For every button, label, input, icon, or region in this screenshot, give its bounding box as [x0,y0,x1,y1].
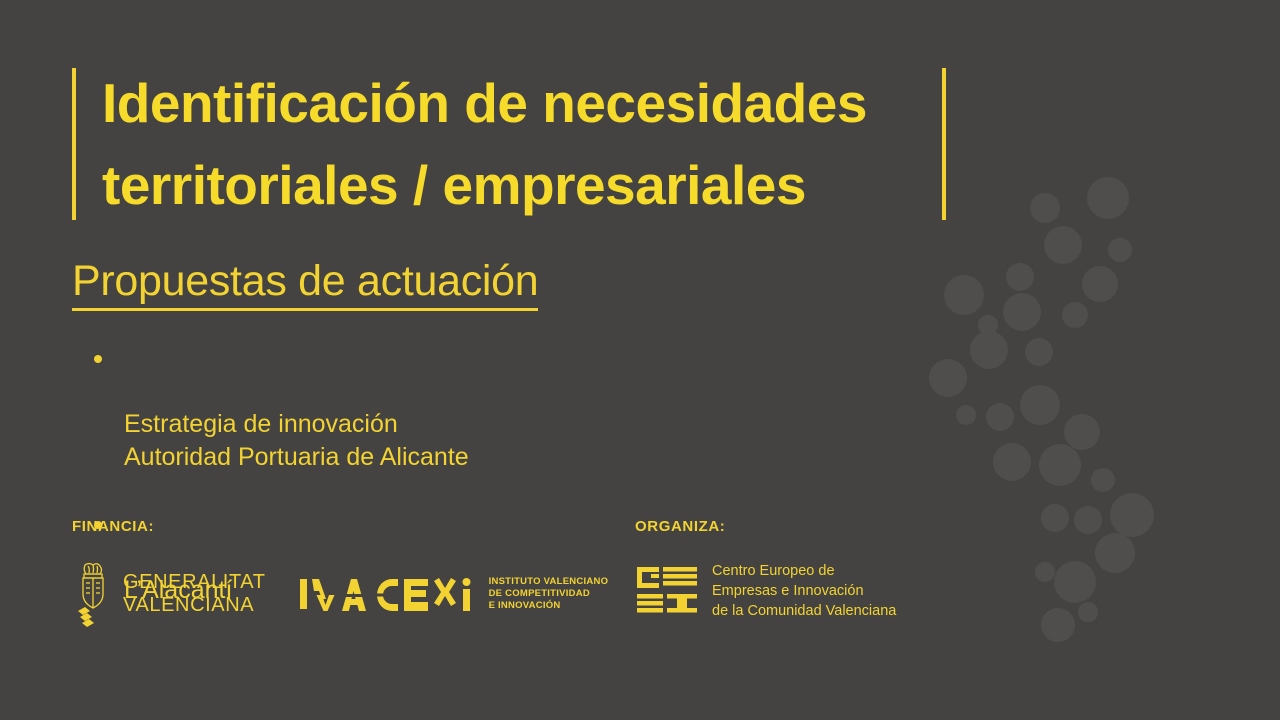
decorative-dot [970,331,1008,369]
decorative-dot [956,405,976,425]
decorative-dot [1082,266,1118,302]
decorative-dot [1074,506,1102,534]
ceei-tagline: Centro Europeo de Empresas e Innovación … [712,561,896,621]
decorative-dot [1110,493,1154,537]
decorative-dot-pattern [940,0,1280,720]
ceei-logo: Centro Europeo de Empresas e Innovación … [635,561,896,621]
decorative-dot [1030,193,1060,223]
subtitle: Propuestas de actuación [72,256,538,311]
decorative-dot [1041,504,1069,532]
decorative-dot [1039,444,1081,486]
decorative-dot [993,443,1031,481]
decorative-dot [1006,263,1034,291]
decorative-dot [1108,238,1132,262]
title-rule-right-icon [942,68,946,220]
decorative-dot [1062,302,1088,328]
ceei-wordmark-icon [635,565,699,617]
decorative-dot [1054,561,1096,603]
generalitat-emblem-icon [72,561,114,627]
decorative-dot [944,275,984,315]
decorative-dot [1041,608,1075,642]
decorative-dot [986,403,1014,431]
decorative-dot [1025,338,1053,366]
decorative-dot [1044,226,1082,264]
decorative-dot [1091,468,1115,492]
title-rule-left-icon [72,68,76,220]
presentation-slide: Identificación de necesidades territoria… [0,0,1280,720]
ivace-logo: INSTITUTO VALENCIANO DE COMPETITIVIDAD E… [300,576,609,612]
generalitat-wordmark: GENERALITAT VALENCIANA [123,571,266,617]
financia-label: FINANCIA: [72,518,608,535]
decorative-dot [1078,602,1098,622]
organiza-label: ORGANIZA: [635,518,896,535]
decorative-dot [1020,385,1060,425]
decorative-dot [1064,414,1100,450]
decorative-dot [1087,177,1129,219]
financia-logo-row: GENERALITAT VALENCIANA [72,561,608,627]
organiza-logo-row: Centro Europeo de Empresas e Innovación … [635,561,896,621]
title-block: Identificación de necesidades territoria… [72,68,946,220]
list-item: Estrategia de innovación Autoridad Portu… [90,342,850,474]
decorative-dot [1035,562,1055,582]
decorative-dot [978,315,998,335]
list-item-label: Estrategia de innovación Autoridad Portu… [124,410,469,471]
decorative-dot [929,359,967,397]
decorative-dot [1003,293,1041,331]
bullet-marker-icon [94,355,102,363]
organiza-group: ORGANIZA: [635,518,896,621]
generalitat-valenciana-logo: GENERALITAT VALENCIANA [72,561,266,627]
page-title: Identificación de necesidades territoria… [102,62,932,226]
decorative-dot [1095,533,1135,573]
ivace-wordmark-icon [300,577,480,611]
ivace-tagline: INSTITUTO VALENCIANO DE COMPETITIVIDAD E… [489,576,609,612]
financia-group: FINANCIA: [72,518,608,627]
